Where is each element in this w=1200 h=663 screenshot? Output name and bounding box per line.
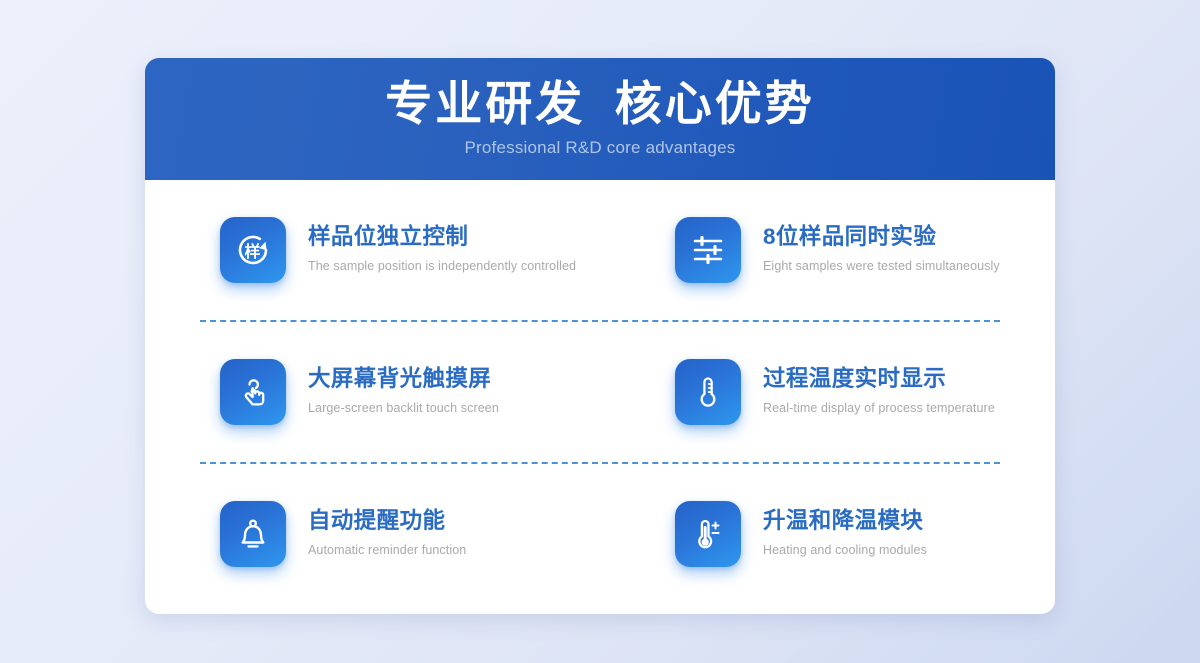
thermometer-icon (675, 359, 741, 425)
bell-icon (220, 501, 286, 567)
feature-row: 样 样品位独立控制 The sample position is indepen… (145, 180, 1055, 320)
feature-subtitle: The sample position is independently con… (308, 259, 576, 274)
feature-text: 过程温度实时显示 Real-time display of process te… (763, 366, 995, 418)
feature-item-heating-cooling[interactable]: 升温和降温模块 Heating and cooling modules (600, 464, 1055, 604)
page-subtitle: Professional R&D core advantages (145, 138, 1055, 158)
feature-text: 升温和降温模块 Heating and cooling modules (763, 508, 927, 560)
feature-subtitle: Heating and cooling modules (763, 543, 927, 558)
sample-rotate-icon: 样 (220, 217, 286, 283)
feature-title: 样品位独立控制 (308, 224, 576, 251)
features-grid: 样 样品位独立控制 The sample position is indepen… (145, 180, 1055, 604)
feature-subtitle: Large-screen backlit touch screen (308, 401, 499, 416)
feature-item-eight-samples[interactable]: 8位样品同时实验 Eight samples were tested simul… (600, 180, 1055, 320)
feature-title: 过程温度实时显示 (763, 366, 995, 393)
feature-subtitle: Automatic reminder function (308, 543, 466, 558)
feature-item-process-temperature[interactable]: 过程温度实时显示 Real-time display of process te… (600, 322, 1055, 462)
feature-title: 升温和降温模块 (763, 508, 927, 535)
feature-row: 大屏幕背光触摸屏 Large-screen backlit touch scre… (145, 322, 1055, 462)
feature-row: 自动提醒功能 Automatic reminder function (145, 464, 1055, 604)
card-header: 专业研发 核心优势 Professional R&D core advantag… (145, 58, 1055, 180)
touch-hand-icon (220, 359, 286, 425)
feature-title: 8位样品同时实验 (763, 224, 1000, 251)
page-title: 专业研发 核心优势 (145, 74, 1055, 137)
feature-item-auto-reminder[interactable]: 自动提醒功能 Automatic reminder function (145, 464, 600, 604)
feature-text: 8位样品同时实验 Eight samples were tested simul… (763, 224, 1000, 276)
divider (200, 462, 1000, 464)
feature-item-touch-screen[interactable]: 大屏幕背光触摸屏 Large-screen backlit touch scre… (145, 322, 600, 462)
thermometer-plus-minus-icon (675, 501, 741, 567)
feature-title: 大屏幕背光触摸屏 (308, 366, 499, 393)
feature-text: 大屏幕背光触摸屏 Large-screen backlit touch scre… (308, 366, 499, 418)
feature-subtitle: Real-time display of process temperature (763, 401, 995, 416)
advantages-card: 专业研发 核心优势 Professional R&D core advantag… (145, 58, 1055, 614)
svg-text:样: 样 (244, 242, 260, 261)
feature-item-sample-position[interactable]: 样 样品位独立控制 The sample position is indepen… (145, 180, 600, 320)
divider (200, 320, 1000, 322)
sliders-icon (675, 217, 741, 283)
feature-subtitle: Eight samples were tested simultaneously (763, 259, 1000, 274)
feature-text: 样品位独立控制 The sample position is independe… (308, 224, 576, 276)
feature-text: 自动提醒功能 Automatic reminder function (308, 508, 466, 560)
feature-title: 自动提醒功能 (308, 508, 466, 535)
